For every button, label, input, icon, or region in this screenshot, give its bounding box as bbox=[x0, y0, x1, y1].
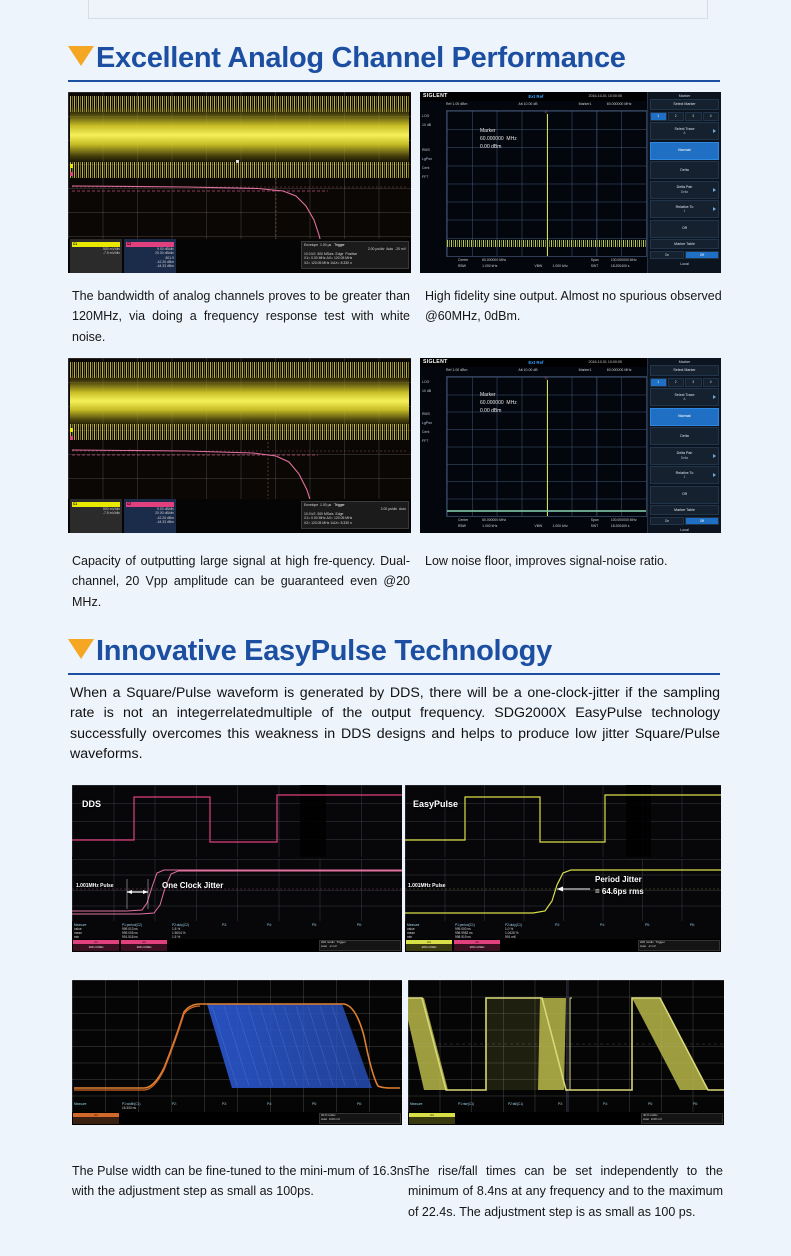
caption-pulse-width: The Pulse width can be fine-tuned to the… bbox=[72, 1161, 410, 1202]
measure-header-5: P5: bbox=[645, 923, 650, 927]
channel-1-tag: C1 bbox=[406, 940, 452, 944]
trigger-label: Trigger bbox=[334, 243, 345, 247]
rbw-label: RBW bbox=[458, 524, 466, 528]
sample-rate: 2.00 µs/div bbox=[368, 247, 384, 251]
scope-screenshot-rise-fall: Measure P1:rise(C1) P2:fall(C1) P3: P4: … bbox=[408, 980, 724, 1125]
sa-noise-floor bbox=[447, 510, 646, 512]
swt-value: 18.200400 s bbox=[611, 524, 630, 528]
rise-fall-status-bar: C1 40.0 ns/div Auto 0.00 mV bbox=[408, 1112, 724, 1125]
marker-table-toggle[interactable]: On Off bbox=[650, 517, 719, 525]
chevron-right-icon bbox=[713, 188, 716, 192]
section-rule-analog bbox=[68, 80, 720, 82]
cursor-line-2: X2= 120.05 MHz 1/ΔX= 8.330 n bbox=[304, 521, 406, 525]
span-value: 100.000000 MHz bbox=[611, 518, 637, 522]
pulse-width-measure-row: Measure P1:width(C1) P2: P3: P4: P5: P6:… bbox=[72, 1102, 402, 1112]
center-label: Center bbox=[458, 258, 468, 262]
section-title-easypulse: Innovative EasyPulse Technology bbox=[96, 637, 552, 666]
ext-ref-indicator: Ext Ref bbox=[528, 94, 543, 99]
dds-square-wave bbox=[72, 785, 402, 857]
center-value: 60.000000 MHz bbox=[482, 258, 506, 262]
channel-2-scale: 100 mV/div bbox=[469, 945, 484, 949]
menu-delta-label: Delta bbox=[680, 168, 688, 173]
memory-depth: 10.0 kS bbox=[304, 252, 316, 256]
sa-label-fft: FFT bbox=[422, 173, 446, 182]
menu-marker-table-label: Marker Table bbox=[674, 508, 695, 513]
menu-delta[interactable]: Delta bbox=[650, 161, 719, 179]
easypulse-signal-label: 1.001MHz Pulse bbox=[408, 883, 446, 889]
channel-1-readout[interactable]: C1 bbox=[409, 1113, 455, 1124]
channel-2-scale: 100 mV/div bbox=[136, 945, 151, 949]
sa-info-row: Ref 1.00 dBm Att 10.00 dB Marker1 60.000… bbox=[446, 368, 647, 375]
trigger-label: Trigger bbox=[334, 503, 345, 507]
timebase: 1.00 µs bbox=[320, 503, 331, 507]
trigger-readout-box[interactable]: 40.0 ns/div Auto 0.00 mV bbox=[641, 1113, 723, 1124]
channel-1-scale: 100 mV/div bbox=[421, 945, 436, 949]
ext-ref-indicator: Ext Ref bbox=[528, 360, 543, 365]
ref-level: Ref 1.00 dBm bbox=[446, 102, 467, 106]
trigger-readout-box[interactable]: Envelope 1.00 µs Trigger 2.00 µs/div Aut… bbox=[301, 241, 409, 269]
sa-noise-floor bbox=[447, 240, 646, 247]
trigger-type: Edge bbox=[336, 252, 344, 256]
trigger-label: Trigger bbox=[655, 940, 664, 944]
vbw-label: VBW bbox=[534, 264, 542, 268]
menu-select-trace[interactable]: Select Trace A bbox=[650, 122, 719, 140]
channel-2-readout[interactable]: C2 9.00 dB/div 20.00 dB/div -42.26 dBm -… bbox=[124, 499, 176, 533]
marker-num-2[interactable]: 2 bbox=[668, 378, 685, 387]
caption-bandwidth: The bandwidth of analog channels proves … bbox=[72, 286, 410, 347]
swt-label: SWT bbox=[591, 264, 599, 268]
brand-logo: SIGLENT bbox=[423, 93, 448, 99]
easypulse-lower-pane: 1.001MHz Pulse Period Jitter = 64.6ps rm… bbox=[405, 859, 721, 921]
swt-value: 18.200400 s bbox=[611, 264, 630, 268]
marker-num-3[interactable]: 3 bbox=[685, 112, 702, 121]
span-value: 100.000000 MHz bbox=[611, 258, 637, 262]
section-rule-easypulse bbox=[68, 673, 720, 675]
dds-lower-pane: 1.001MHz Pulse One Clock Jitter bbox=[72, 859, 402, 921]
sample-count: 500 MSa/s bbox=[317, 512, 333, 516]
ref-level: Ref 1.00 dBm bbox=[446, 368, 467, 372]
swt-label: SWT bbox=[591, 524, 599, 528]
sa-trace-grid: 1 bbox=[446, 110, 647, 257]
channel-1-readout[interactable]: C1 100 mV/div bbox=[73, 940, 119, 951]
chevron-right-icon bbox=[713, 207, 716, 211]
sa-label-fft: FFT bbox=[422, 437, 446, 446]
sa-label-rms: RMS bbox=[422, 146, 446, 155]
trigger-slope: Positive bbox=[345, 252, 357, 256]
section-title-analog: Excellent Analog Channel Performance bbox=[96, 44, 626, 73]
sa-label-cent: Cent bbox=[422, 164, 446, 173]
menu-delta-label: Delta bbox=[680, 434, 688, 439]
menu-select-trace-sub: A bbox=[683, 131, 685, 135]
marker-num-3[interactable]: 3 bbox=[685, 378, 702, 387]
menu-marker-table[interactable]: Marker Table bbox=[650, 505, 719, 515]
triangle-down-icon bbox=[68, 639, 94, 659]
trigger-mode: Auto bbox=[321, 944, 327, 948]
chevron-right-icon bbox=[713, 395, 716, 399]
dds-status-bar: C1 100 mV/div C2 100 mV/div 200 ns/div T… bbox=[72, 939, 402, 952]
rbw-value: 1.000 kHz bbox=[482, 264, 497, 268]
scope-screenshot-bandwidth: C1 500 mV/div -7.5 mV/div C2 9.00 dB/div… bbox=[68, 92, 411, 273]
trigger-label: Trigger bbox=[336, 940, 345, 944]
marker-num-4[interactable]: 4 bbox=[703, 378, 720, 387]
scope-screenshot-easypulse: EasyPulse 1.001MHz Pulse Period Jitter =… bbox=[405, 785, 721, 952]
menu-normal-label: Normal bbox=[678, 414, 690, 419]
sa-side-menu: Marker Select Marker 1 2 3 4 Select Trac… bbox=[647, 358, 721, 533]
easypulse-jitter-annotation-2: = 64.6ps rms bbox=[595, 887, 644, 896]
sa-bottom-readout: Center 60.000000 MHz RBW 1.000 kHz VBW 1… bbox=[446, 258, 647, 272]
vbw-value: 1.000 kHz bbox=[553, 264, 568, 268]
measure-header-1: P1:rise(C1) bbox=[458, 1102, 474, 1106]
easypulse-status-bar: C1 100 mV/div C2 100 mV/div 200 ns/div T… bbox=[405, 939, 721, 952]
trigger-level: -2 mV bbox=[329, 944, 337, 948]
measure-header-5: P5: bbox=[312, 1102, 317, 1106]
marker-name: Marker1 bbox=[579, 368, 592, 372]
local-indicator[interactable]: Local bbox=[648, 259, 721, 266]
acq-mode: Envelope bbox=[304, 503, 318, 507]
trigger-mode: Auto bbox=[643, 1117, 649, 1121]
menu-delta-pair-sub: Delta bbox=[681, 190, 688, 194]
center-value: 60.000000 MHz bbox=[482, 518, 506, 522]
channel-2-val-2: -44.33 dBm bbox=[126, 520, 174, 524]
menu-relative-to-sub: 1 bbox=[684, 209, 686, 213]
marker-num-2[interactable]: 2 bbox=[668, 112, 685, 121]
sample-rate: 2.00 µs/div bbox=[381, 507, 397, 511]
chevron-right-icon bbox=[713, 473, 716, 477]
channel-2-val-2: -44.33 dBm bbox=[126, 264, 174, 268]
channel-1-tag: C1 bbox=[409, 1113, 455, 1117]
menu-select-marker-label: Select Marker bbox=[673, 368, 695, 373]
brand-logo: SIGLENT bbox=[423, 359, 448, 365]
marker-table-off[interactable]: Off bbox=[685, 251, 719, 259]
menu-select-marker-label: Select Marker bbox=[673, 102, 695, 107]
trigger-level: -2 mV bbox=[648, 944, 656, 948]
trigger-level: 0.00 mV bbox=[651, 1117, 662, 1121]
spectrum-analyzer-screenshot-1: SIGLENT Ext Ref 2016-10-01 10:00:05 Mark… bbox=[420, 92, 721, 273]
menu-select-marker[interactable]: Select Marker bbox=[650, 99, 719, 110]
sa-side-menu: Marker Select Marker 1 2 3 4 Select Trac… bbox=[647, 92, 721, 273]
channel-1-readout[interactable]: C1 500 mV/div -7.5 mV/div bbox=[70, 499, 122, 533]
measure-header-3: P3: bbox=[558, 1102, 563, 1106]
timebase: 1.00 µs bbox=[320, 243, 331, 247]
rbw-label: RBW bbox=[458, 264, 466, 268]
measure-header-3: P3: bbox=[222, 923, 227, 927]
sa-left-labels: LOG 10 dB RMS LgPwr Cent FFT bbox=[422, 378, 446, 447]
sa-marker-annotation: Marker 60.000000 MHz 0.00 dBm bbox=[480, 128, 517, 151]
cursor-line-2: X2= 120.05 MHz 1/ΔX= 8.330 n bbox=[304, 261, 406, 265]
menu-select-trace-sub: A bbox=[683, 397, 685, 401]
sa-side-menu-title: Marker bbox=[648, 92, 721, 99]
channel-1-scale bbox=[432, 1118, 433, 1122]
trigger-readout-box[interactable]: Envelope 1.00 µs Trigger 2.00 µs/div Aut… bbox=[301, 501, 409, 529]
trigger-readout-box[interactable]: 20.0 ns/div Auto 0.00 mV bbox=[319, 1113, 401, 1124]
menu-select-marker[interactable]: Select Marker bbox=[650, 365, 719, 376]
sa-peak-marker-icon: 1 bbox=[545, 110, 547, 114]
measure-header-6: P6: bbox=[357, 1102, 362, 1106]
menu-normal-label: Normal bbox=[678, 148, 690, 153]
dds-upper-pane: DDS bbox=[72, 785, 402, 857]
channel-2-readout[interactable]: C2 100 mV/div bbox=[454, 940, 500, 951]
pulse-width-status-bar: C1 20.0 ns/div Auto 0.00 mV bbox=[72, 1112, 402, 1125]
spectrum-analyzer-screenshot-2: SIGLENT Ext Ref 2016-10-01 10:00:05 Mark… bbox=[420, 358, 721, 533]
easypulse-upper-pane: EasyPulse bbox=[405, 785, 721, 857]
channel-1-scale bbox=[96, 1118, 97, 1122]
menu-select-trace[interactable]: Select Trace A bbox=[650, 388, 719, 406]
menu-off[interactable]: Off bbox=[650, 220, 719, 238]
rise-fall-measure-row: Measure P1:rise(C1) P2:fall(C1) P3: P4: … bbox=[408, 1102, 724, 1112]
measure-header-4: P4: bbox=[267, 923, 272, 927]
menu-off[interactable]: Off bbox=[650, 486, 719, 504]
easypulse-title: EasyPulse bbox=[413, 799, 458, 809]
sa-label-rms: RMS bbox=[422, 410, 446, 419]
datetime-display: 2016-10-01 10:00:05 bbox=[589, 360, 622, 364]
menu-delta-pair-sub: Delta bbox=[681, 456, 688, 460]
measure-header-6: P6: bbox=[357, 923, 362, 927]
trigger-type: Edge bbox=[336, 512, 344, 516]
measure-header-4: P4: bbox=[600, 923, 605, 927]
measure-header-4: P4: bbox=[267, 1102, 272, 1106]
vbw-value: 1.000 kHz bbox=[553, 524, 568, 528]
sa-bottom-readout: Center 60.000000 MHz RBW 1.000 kHz VBW 1… bbox=[446, 518, 647, 532]
channel-1-readout[interactable]: C1 500 mV/div -7.5 mV/div bbox=[70, 239, 122, 273]
dds-jitter-edges bbox=[72, 859, 402, 921]
menu-relative-to-sub: 1 bbox=[684, 475, 686, 479]
easypulse-jitter-annotation-1: Period Jitter bbox=[595, 875, 642, 884]
caption-large-signal: Capacity of outputting large signal at h… bbox=[72, 551, 410, 612]
measure-header-4: P4: bbox=[603, 1102, 608, 1106]
easypulse-description: When a Square/Pulse waveform is generate… bbox=[70, 683, 720, 765]
menu-relative-to[interactable]: Relative To 1 bbox=[650, 200, 719, 218]
span-label: Span bbox=[591, 518, 599, 522]
sa-side-menu-title: Marker bbox=[648, 358, 721, 365]
measure-header-3: P3: bbox=[222, 1102, 227, 1106]
marker-frequency: 60.000000 MHz bbox=[607, 102, 632, 106]
easypulse-clean-edge bbox=[405, 859, 721, 921]
center-label: Center bbox=[458, 518, 468, 522]
sa-trace-grid: 1 bbox=[446, 376, 647, 517]
sa-label-log: LOG bbox=[422, 378, 446, 387]
easypulse-square-wave bbox=[405, 785, 721, 857]
menu-off-label: Off bbox=[682, 226, 687, 231]
marker-number-selector[interactable]: 1 2 3 4 bbox=[650, 378, 719, 387]
marker-table-toggle[interactable]: On Off bbox=[650, 251, 719, 259]
section-heading-easypulse: Innovative EasyPulse Technology bbox=[68, 637, 552, 666]
sa-label-cent: Cent bbox=[422, 428, 446, 437]
menu-delta[interactable]: Delta bbox=[650, 427, 719, 445]
sa-peak-marker-icon: 1 bbox=[545, 376, 547, 380]
menu-delta-pair[interactable]: Delta Pair Delta bbox=[650, 181, 719, 199]
pulse-width-value: 16.300 ns bbox=[122, 1106, 136, 1110]
sa-label-db: 10 dB bbox=[422, 387, 446, 396]
trigger-level: -20 mV bbox=[395, 247, 406, 251]
caption-noise-floor: Low noise floor, improves signal-noise r… bbox=[425, 551, 723, 571]
menu-off-label: Off bbox=[682, 492, 687, 497]
top-content-box bbox=[88, 0, 708, 19]
channel-2-tag: C2 bbox=[454, 940, 500, 944]
sa-label-lgpwr: LgPwr bbox=[422, 155, 446, 164]
channel-2-readout[interactable]: C2 100 mV/div bbox=[121, 940, 167, 951]
measure-header-6: P6: bbox=[693, 1102, 698, 1106]
rbw-value: 1.000 kHz bbox=[482, 524, 497, 528]
channel-2-readout[interactable]: C2 9.00 dB/div 20.00 dB/div 801.9 -42.26… bbox=[124, 239, 176, 273]
menu-normal[interactable]: Normal bbox=[650, 408, 719, 426]
trigger-mode: Auto bbox=[640, 944, 646, 948]
measure-header-0: Measure bbox=[410, 1102, 422, 1106]
dds-title: DDS bbox=[82, 799, 101, 809]
menu-relative-to[interactable]: Relative To 1 bbox=[650, 466, 719, 484]
sa-peak-trace bbox=[547, 114, 548, 256]
measure-header-6: P6: bbox=[690, 923, 695, 927]
channel-2-tag: C2 bbox=[121, 940, 167, 944]
caption-rise-fall: The rise/fall times can be set independe… bbox=[408, 1161, 723, 1222]
memory-depth: 10.0 kS bbox=[304, 512, 316, 516]
section-heading-analog: Excellent Analog Channel Performance bbox=[68, 44, 626, 73]
channel-1-readout[interactable]: C1 100 mV/div bbox=[406, 940, 452, 951]
measure-header-2: P2:fall(C1) bbox=[508, 1102, 523, 1106]
channel-1-tag: C1 bbox=[73, 940, 119, 944]
menu-marker-table[interactable]: Marker Table bbox=[650, 239, 719, 249]
rise-fall-persistence-trace bbox=[408, 980, 724, 1112]
datasheet-page: Excellent Analog Channel Performance C1 … bbox=[0, 0, 791, 1256]
attenuation: Att 10.00 dB bbox=[518, 368, 537, 372]
marker-num-4[interactable]: 4 bbox=[703, 112, 720, 121]
trigger-readout-box[interactable]: 200 ns/div Trigger Auto -2 mV bbox=[638, 940, 720, 951]
dds-jitter-annotation: One Clock Jitter bbox=[162, 881, 223, 890]
marker-num-1[interactable]: 1 bbox=[650, 378, 667, 387]
scope-status-bar: C1 500 mV/div -7.5 mV/div C2 9.00 dB/div… bbox=[68, 499, 411, 533]
triangle-down-icon bbox=[68, 46, 94, 66]
datetime-display: 2016-10-01 10:00:05 bbox=[589, 94, 622, 98]
marker-table-on[interactable]: On bbox=[650, 517, 684, 525]
trigger-mode: Auto bbox=[321, 1117, 327, 1121]
attenuation: Att 10.00 dB bbox=[518, 102, 537, 106]
trigger-level: 0.00 mV bbox=[329, 1117, 340, 1121]
trigger-auto: Auto bbox=[399, 507, 406, 511]
local-indicator[interactable]: Local bbox=[648, 525, 721, 532]
sa-label-lgpwr: LgPwr bbox=[422, 419, 446, 428]
vbw-label: VBW bbox=[534, 524, 542, 528]
marker-table-on[interactable]: On bbox=[650, 251, 684, 259]
channel-1-readout[interactable]: C1 bbox=[73, 1113, 119, 1124]
pulse-width-persistence-trace bbox=[72, 980, 402, 1112]
scope-screenshot-pulse-width: Measure P1:width(C1) P2: P3: P4: P5: P6:… bbox=[72, 980, 402, 1125]
sa-left-labels: LOG 10 dB RMS LgPwr Cent FFT bbox=[422, 112, 446, 183]
measure-header-5: P5: bbox=[648, 1102, 653, 1106]
sa-label-db: 10 dB bbox=[422, 121, 446, 130]
caption-sine-fidelity: High fidelity sine output. Almost no spu… bbox=[425, 286, 723, 327]
acq-mode: Envelope bbox=[304, 243, 318, 247]
sa-info-row: Ref 1.00 dBm Att 10.00 dB Marker1 60.000… bbox=[446, 102, 647, 109]
marker-frequency: 60.000000 MHz bbox=[607, 368, 632, 372]
menu-marker-table-label: Marker Table bbox=[674, 242, 695, 247]
sa-label-log: LOG bbox=[422, 112, 446, 121]
span-label: Span bbox=[591, 258, 599, 262]
sa-peak-trace bbox=[547, 380, 548, 516]
marker-number-selector[interactable]: 1 2 3 4 bbox=[650, 112, 719, 121]
menu-delta-pair[interactable]: Delta Pair Delta bbox=[650, 447, 719, 465]
chevron-right-icon bbox=[713, 129, 716, 133]
measure-header-3: P3: bbox=[555, 923, 560, 927]
trigger-auto: Auto bbox=[386, 247, 393, 251]
sa-marker-annotation: Marker 60.000000 MHz 0.00 dBm bbox=[480, 392, 517, 415]
channel-1-offset: -7.5 mV/div bbox=[72, 251, 120, 255]
scope-screenshot-dds: DDS 1.001MHz Pulse One Clock Jitter Meas… bbox=[72, 785, 402, 952]
sample-count: 500 MSa/s bbox=[317, 252, 333, 256]
scope-status-bar: C1 500 mV/div -7.5 mV/div C2 9.00 dB/div… bbox=[68, 239, 411, 273]
measure-header-5: P5: bbox=[312, 923, 317, 927]
measure-header-0: Measure bbox=[74, 1102, 86, 1106]
marker-name: Marker1 bbox=[579, 102, 592, 106]
dds-signal-label: 1.001MHz Pulse bbox=[76, 883, 114, 889]
trigger-readout-box[interactable]: 200 ns/div Trigger Auto -2 mV bbox=[319, 940, 401, 951]
channel-1-scale: 100 mV/div bbox=[88, 945, 103, 949]
chevron-right-icon bbox=[713, 454, 716, 458]
marker-num-1[interactable]: 1 bbox=[650, 112, 667, 121]
marker-table-off[interactable]: Off bbox=[685, 517, 719, 525]
menu-normal[interactable]: Normal bbox=[650, 142, 719, 160]
measure-header-2: P2: bbox=[172, 1102, 177, 1106]
channel-1-offset: -7.5 mV/div bbox=[72, 511, 120, 515]
channel-1-tag: C1 bbox=[73, 1113, 119, 1117]
scope-screenshot-large-signal: C1 500 mV/div -7.5 mV/div C2 9.00 dB/div… bbox=[68, 358, 411, 533]
